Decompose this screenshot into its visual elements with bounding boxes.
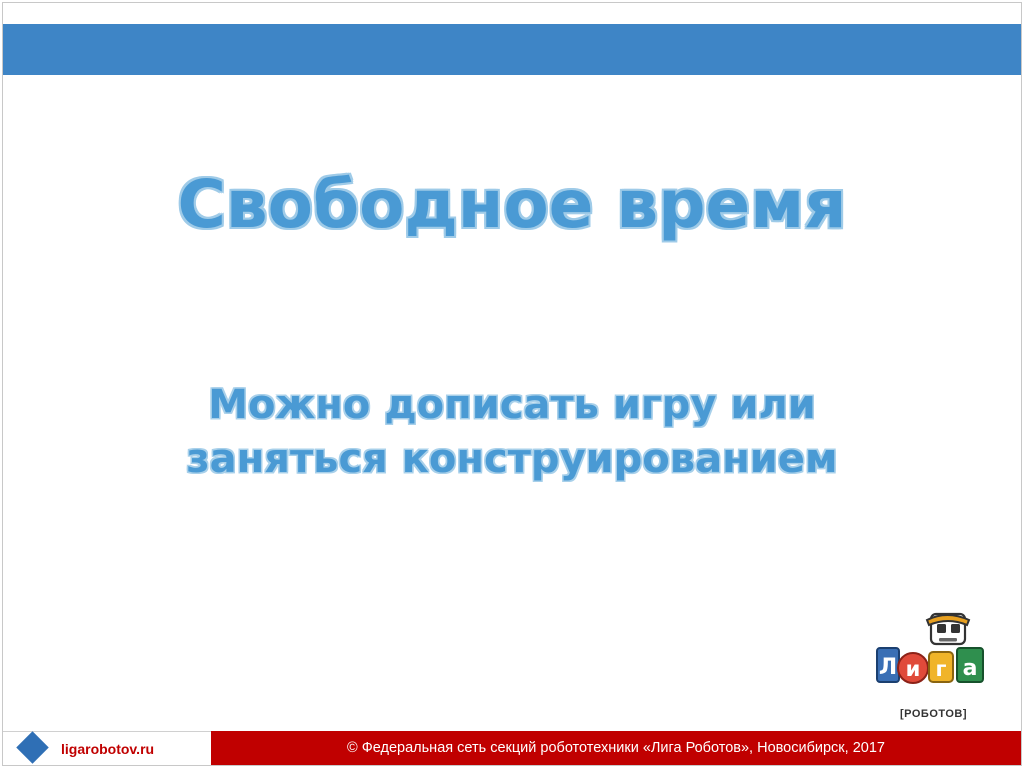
subtitle-line-2: заняться конструированием (0, 432, 1024, 486)
subtitle-container: Можно дописать игру или заняться констру… (0, 378, 1024, 486)
slide-title: Свободное время (177, 170, 846, 239)
svg-text:и: и (906, 657, 921, 681)
liga-robotov-logo: Л и г а [РОБОТОВ] (871, 610, 996, 720)
svg-text:Л: Л (879, 655, 897, 680)
title-container: Свободное время (0, 170, 1024, 239)
diamond-icon (16, 731, 49, 764)
logo-caption: [РОБОТОВ] (871, 708, 996, 720)
svg-text:а: а (963, 656, 978, 681)
footer-copyright-block: © Федеральная сеть секций робототехники … (211, 731, 1021, 765)
footer-copyright-text: © Федеральная сеть секций робототехники … (347, 740, 885, 756)
header-band (3, 24, 1021, 75)
footer-left-block: ligarobotov.ru (3, 731, 211, 765)
presentation-slide: Свободное время Можно дописать игру или … (0, 0, 1024, 768)
logo-artwork: Л и г а (871, 610, 996, 706)
logo-wordmark-letters: Л и г а (877, 648, 983, 683)
subtitle-line-1: Можно дописать игру или (0, 378, 1024, 432)
footer-bar: ligarobotov.ru © Федеральная сеть секций… (3, 731, 1021, 765)
svg-text:г: г (936, 657, 947, 681)
robot-head-icon (927, 614, 969, 644)
footer-site-label: ligarobotov.ru (61, 741, 154, 757)
